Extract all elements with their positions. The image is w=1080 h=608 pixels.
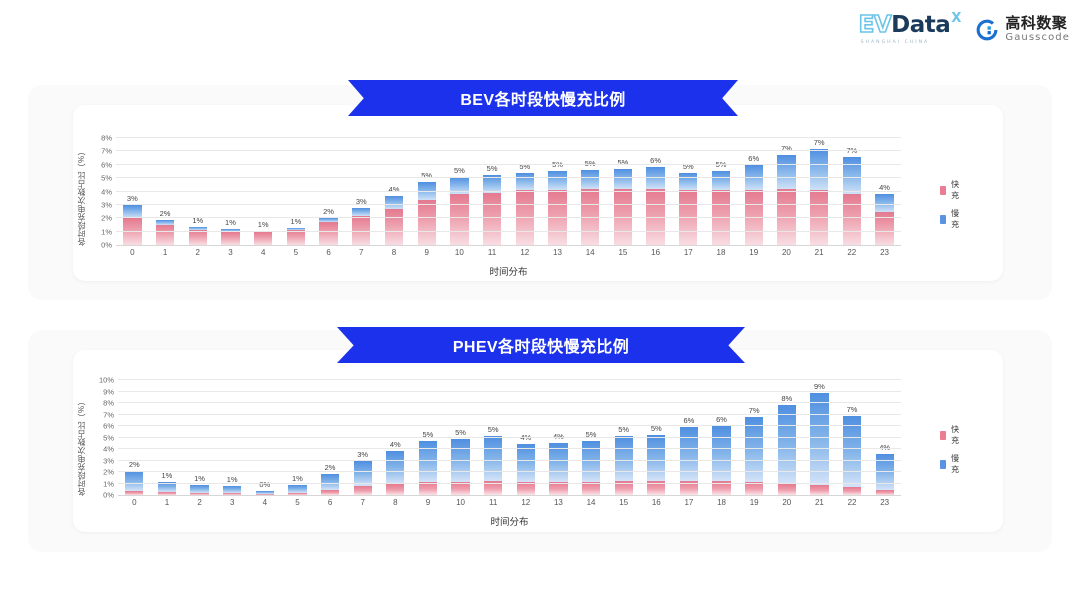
legend-item-fast-charge[interactable]: 快充 bbox=[940, 424, 962, 446]
x-axis-tick: 9 bbox=[412, 498, 445, 507]
evdata-wordmark: EV Data X bbox=[859, 14, 962, 37]
bar-segment-slow-charge[interactable] bbox=[352, 208, 370, 215]
bar-slot[interactable]: 6% bbox=[705, 380, 738, 495]
bar-value-label: 6% bbox=[684, 416, 695, 425]
bar-slot[interactable]: 5% bbox=[412, 380, 445, 495]
stacked-bar[interactable]: 4% bbox=[875, 194, 893, 245]
stacked-bar[interactable]: 5% bbox=[581, 170, 599, 245]
x-axis-tick: 14 bbox=[574, 248, 607, 257]
bar-value-label: 2% bbox=[160, 209, 171, 218]
stacked-bar[interactable]: 7% bbox=[843, 157, 861, 245]
x-axis-tick: 10 bbox=[443, 248, 476, 257]
bar-slot[interactable]: 1% bbox=[280, 138, 313, 245]
y-axis-tick: 8% bbox=[101, 134, 112, 143]
bar-slot[interactable]: 5% bbox=[705, 138, 738, 245]
bar-value-label: 0% bbox=[259, 480, 270, 489]
x-axis-tick: 11 bbox=[477, 498, 510, 507]
chart-title-phev: PHEV各时段快慢充比例 bbox=[337, 327, 745, 363]
stacked-bar[interactable]: 5% bbox=[548, 171, 566, 245]
gridline bbox=[116, 204, 901, 205]
stacked-bar[interactable]: 9% bbox=[810, 393, 828, 495]
stacked-bar[interactable]: 1% bbox=[223, 486, 241, 495]
header-logos: EV Data X SHANGHAI CHINA 高科数聚 Gausscode bbox=[859, 14, 1070, 45]
bar-segment-slow-charge[interactable] bbox=[614, 169, 632, 189]
bar-slot[interactable]: 1% bbox=[281, 380, 314, 495]
bar-segment-fast-charge[interactable] bbox=[254, 232, 272, 245]
bar-slot[interactable]: 7% bbox=[836, 380, 869, 495]
phev-x-axis-ticks: 01234567891011121314151617181920212223 bbox=[118, 498, 901, 507]
bar-slot[interactable]: 1% bbox=[247, 138, 280, 245]
bar-value-label: 4% bbox=[520, 433, 531, 442]
bar-slot[interactable]: 6% bbox=[639, 138, 672, 245]
x-axis-tick: 12 bbox=[510, 498, 543, 507]
y-axis-tick: 2% bbox=[103, 468, 114, 477]
phev-y-axis-label: 各时段充电次数占比（%） bbox=[76, 378, 87, 496]
bar-value-label: 5% bbox=[421, 171, 432, 180]
bar-segment-fast-charge[interactable] bbox=[288, 493, 306, 495]
y-axis-tick: 6% bbox=[103, 422, 114, 431]
y-axis-tick: 3% bbox=[103, 456, 114, 465]
legend-swatch-fast-icon bbox=[940, 431, 946, 440]
evdata-ev-text: EV bbox=[859, 14, 892, 37]
stacked-bar[interactable]: 5% bbox=[484, 436, 502, 495]
legend-label-slow: 慢充 bbox=[951, 453, 962, 475]
bar-value-label: 1% bbox=[258, 220, 269, 229]
stacked-bar[interactable]: 1% bbox=[158, 482, 176, 495]
y-axis-tick: 7% bbox=[101, 147, 112, 156]
bar-value-label: 5% bbox=[488, 425, 499, 434]
bar-slot[interactable]: 5% bbox=[607, 380, 640, 495]
bar-segment-slow-charge[interactable] bbox=[516, 173, 534, 190]
stacked-bar[interactable]: 4% bbox=[517, 444, 535, 495]
x-axis-tick: 18 bbox=[705, 498, 738, 507]
gridline bbox=[118, 471, 901, 472]
gridline bbox=[118, 460, 901, 461]
bar-segment-fast-charge[interactable] bbox=[125, 491, 143, 495]
bar-slot[interactable]: 9% bbox=[803, 380, 836, 495]
x-axis-tick: 15 bbox=[607, 248, 640, 257]
stacked-bar[interactable]: 3% bbox=[352, 208, 370, 245]
x-axis-tick: 18 bbox=[705, 248, 738, 257]
x-axis-tick: 4 bbox=[247, 248, 280, 257]
gridline bbox=[118, 391, 901, 392]
x-axis-tick: 10 bbox=[444, 498, 477, 507]
bar-segment-fast-charge[interactable] bbox=[745, 482, 763, 495]
stacked-bar[interactable]: 3% bbox=[123, 205, 141, 245]
bar-segment-slow-charge[interactable] bbox=[712, 426, 730, 481]
bar-segment-fast-charge[interactable] bbox=[843, 194, 861, 245]
x-axis-tick: 0 bbox=[116, 248, 149, 257]
stacked-bar[interactable]: 5% bbox=[418, 182, 436, 245]
x-axis-tick: 19 bbox=[738, 498, 771, 507]
bar-segment-fast-charge[interactable] bbox=[223, 493, 241, 495]
phev-bars: 2%1%1%1%0%1%2%3%4%5%5%5%4%4%5%5%5%6%6%7%… bbox=[118, 380, 901, 495]
bar-slot[interactable]: 5% bbox=[575, 380, 608, 495]
x-axis-tick: 9 bbox=[410, 248, 443, 257]
bar-slot[interactable]: 4% bbox=[868, 380, 901, 495]
bar-slot[interactable]: 3% bbox=[346, 380, 379, 495]
gridline bbox=[118, 379, 901, 380]
evdata-subtitle: SHANGHAI CHINA bbox=[861, 40, 930, 45]
bar-segment-slow-charge[interactable] bbox=[777, 155, 795, 188]
bar-segment-slow-charge[interactable] bbox=[517, 444, 535, 482]
bar-value-label: 3% bbox=[357, 450, 368, 459]
gridline bbox=[118, 437, 901, 438]
phev-plot-area: 2%1%1%1%0%1%2%3%4%5%5%5%4%4%5%5%5%6%6%7%… bbox=[118, 380, 901, 496]
bar-segment-fast-charge[interactable] bbox=[354, 486, 372, 495]
gridline bbox=[116, 137, 901, 138]
bar-segment-fast-charge[interactable] bbox=[483, 193, 501, 245]
evdata-data-text: Data bbox=[891, 14, 950, 37]
gridline bbox=[116, 164, 901, 165]
x-axis-tick: 17 bbox=[673, 498, 706, 507]
bar-slot[interactable]: 4% bbox=[378, 138, 411, 245]
evdata-superscript-x: X bbox=[951, 12, 961, 25]
phev-x-axis-label: 时间分布 bbox=[118, 514, 901, 528]
x-axis-tick: 22 bbox=[836, 498, 869, 507]
bar-segment-fast-charge[interactable] bbox=[810, 485, 828, 495]
bar-value-label: 5% bbox=[454, 166, 465, 175]
legend-label-slow: 慢充 bbox=[951, 208, 962, 230]
bar-slot[interactable]: 1% bbox=[151, 380, 184, 495]
stacked-bar[interactable]: 4% bbox=[386, 451, 404, 495]
stacked-bar[interactable]: 1% bbox=[288, 485, 306, 495]
bar-segment-fast-charge[interactable] bbox=[256, 494, 274, 495]
stacked-bar[interactable]: 5% bbox=[615, 436, 633, 495]
legend-label-fast: 快充 bbox=[951, 179, 962, 201]
phev-legend: 快充 慢充 bbox=[940, 424, 962, 475]
x-axis-tick: 23 bbox=[868, 248, 901, 257]
x-axis-tick: 6 bbox=[312, 248, 345, 257]
bar-segment-fast-charge[interactable] bbox=[582, 482, 600, 495]
bar-slot[interactable]: 2% bbox=[149, 138, 182, 245]
bar-segment-fast-charge[interactable] bbox=[287, 230, 305, 245]
bar-value-label: 2% bbox=[129, 460, 140, 469]
bar-segment-fast-charge[interactable] bbox=[221, 232, 239, 245]
legend-swatch-slow-icon bbox=[940, 215, 946, 224]
stacked-bar[interactable]: 2% bbox=[321, 474, 339, 495]
stacked-bar[interactable]: 5% bbox=[679, 173, 697, 245]
bar-value-label: 6% bbox=[716, 415, 727, 424]
bar-slot[interactable]: 5% bbox=[477, 380, 510, 495]
gridline bbox=[118, 414, 901, 415]
bar-slot[interactable]: 4% bbox=[868, 138, 901, 245]
bar-segment-fast-charge[interactable] bbox=[189, 230, 207, 245]
stacked-bar[interactable]: 0% bbox=[256, 491, 274, 495]
bev-legend: 快充 慢充 bbox=[940, 179, 962, 230]
bar-segment-fast-charge[interactable] bbox=[517, 482, 535, 495]
x-axis-tick: 2 bbox=[181, 248, 214, 257]
y-axis-tick: 2% bbox=[101, 214, 112, 223]
gridline bbox=[116, 150, 901, 151]
bar-segment-slow-charge[interactable] bbox=[712, 171, 730, 190]
bar-segment-fast-charge[interactable] bbox=[156, 225, 174, 245]
x-axis-tick: 23 bbox=[868, 498, 901, 507]
bar-slot[interactable]: 5% bbox=[672, 138, 705, 245]
bar-value-label: 1% bbox=[292, 474, 303, 483]
bar-segment-slow-charge[interactable] bbox=[484, 436, 502, 481]
x-axis-tick: 2 bbox=[183, 498, 216, 507]
stacked-bar[interactable]: 5% bbox=[614, 169, 632, 245]
bar-segment-slow-charge[interactable] bbox=[581, 170, 599, 189]
gridline bbox=[118, 483, 901, 484]
bar-slot[interactable]: 5% bbox=[508, 138, 541, 245]
bev-y-axis-label: 各时段充电次数占比（%） bbox=[76, 136, 87, 246]
y-axis-tick: 1% bbox=[103, 479, 114, 488]
bar-value-label: 2% bbox=[323, 207, 334, 216]
bar-slot[interactable]: 2% bbox=[312, 138, 345, 245]
bar-slot[interactable]: 5% bbox=[443, 138, 476, 245]
bev-bars: 3%2%1%1%1%1%2%3%4%5%5%5%5%5%5%5%6%5%5%6%… bbox=[116, 138, 901, 245]
stacked-bar[interactable]: 5% bbox=[582, 441, 600, 495]
legend-label-fast: 快充 bbox=[951, 424, 962, 446]
stacked-bar[interactable]: 5% bbox=[516, 173, 534, 245]
bar-slot[interactable]: 1% bbox=[183, 380, 216, 495]
gridline bbox=[116, 177, 901, 178]
bar-slot[interactable]: 5% bbox=[541, 138, 574, 245]
bar-slot[interactable]: 7% bbox=[803, 138, 836, 245]
bar-segment-slow-charge[interactable] bbox=[450, 177, 468, 194]
bar-segment-slow-charge[interactable] bbox=[385, 196, 403, 209]
bar-segment-fast-charge[interactable] bbox=[386, 484, 404, 495]
bar-segment-slow-charge[interactable] bbox=[125, 471, 143, 491]
gridline bbox=[116, 191, 901, 192]
x-axis-tick: 1 bbox=[151, 498, 184, 507]
stacked-bar[interactable]: 5% bbox=[647, 435, 665, 495]
x-axis-tick: 11 bbox=[476, 248, 509, 257]
slide-page: EV Data X SHANGHAI CHINA 高科数聚 Gausscode bbox=[0, 0, 1080, 608]
bar-value-label: 7% bbox=[814, 138, 825, 147]
bar-slot[interactable]: 3% bbox=[345, 138, 378, 245]
bar-segment-fast-charge[interactable] bbox=[843, 487, 861, 495]
gausscode-logo: 高科数聚 Gausscode bbox=[975, 16, 1070, 43]
bar-slot[interactable]: 4% bbox=[510, 380, 543, 495]
bar-segment-fast-charge[interactable] bbox=[190, 493, 208, 495]
bar-segment-slow-charge[interactable] bbox=[843, 157, 861, 194]
y-axis-tick: 4% bbox=[101, 187, 112, 196]
x-axis-tick: 3 bbox=[214, 248, 247, 257]
y-axis-tick: 0% bbox=[103, 491, 114, 500]
stacked-bar[interactable]: 3% bbox=[354, 461, 372, 496]
bar-segment-slow-charge[interactable] bbox=[647, 435, 665, 481]
x-axis-tick: 21 bbox=[803, 248, 836, 257]
bar-slot[interactable]: 5% bbox=[444, 380, 477, 495]
bar-value-label: 5% bbox=[618, 425, 629, 434]
bar-slot[interactable]: 5% bbox=[574, 138, 607, 245]
bar-slot[interactable]: 8% bbox=[771, 380, 804, 495]
bar-slot[interactable]: 5% bbox=[607, 138, 640, 245]
bar-value-label: 7% bbox=[847, 405, 858, 414]
y-axis-tick: 1% bbox=[101, 227, 112, 236]
x-axis-tick: 13 bbox=[541, 248, 574, 257]
stacked-bar[interactable]: 2% bbox=[156, 220, 174, 245]
x-axis-tick: 20 bbox=[771, 498, 804, 507]
legend-swatch-slow-icon bbox=[940, 460, 946, 469]
bev-x-axis-label: 时间分布 bbox=[116, 264, 901, 278]
bar-slot[interactable]: 2% bbox=[314, 380, 347, 495]
x-axis-tick: 8 bbox=[378, 248, 411, 257]
bar-segment-fast-charge[interactable] bbox=[123, 218, 141, 245]
y-axis-tick: 9% bbox=[103, 387, 114, 396]
x-axis-tick: 13 bbox=[542, 498, 575, 507]
chart-title-bev: BEV各时段快慢充比例 bbox=[348, 80, 738, 116]
bar-slot[interactable]: 1% bbox=[181, 138, 214, 245]
gridline bbox=[116, 217, 901, 218]
gridline bbox=[118, 402, 901, 403]
stacked-bar[interactable]: 1% bbox=[190, 485, 208, 495]
bar-segment-fast-charge[interactable] bbox=[419, 482, 437, 495]
bar-segment-slow-charge[interactable] bbox=[548, 171, 566, 190]
bar-slot[interactable]: 4% bbox=[542, 380, 575, 495]
x-axis-tick: 19 bbox=[737, 248, 770, 257]
bar-segment-slow-charge[interactable] bbox=[190, 485, 208, 492]
x-axis-tick: 0 bbox=[118, 498, 151, 507]
bar-slot[interactable]: 2% bbox=[118, 380, 151, 495]
stacked-bar[interactable]: 2% bbox=[319, 218, 337, 245]
bar-segment-slow-charge[interactable] bbox=[843, 416, 861, 487]
bev-x-axis-ticks: 01234567891011121314151617181920212223 bbox=[116, 248, 901, 257]
y-axis-tick: 10% bbox=[99, 376, 114, 385]
bar-slot[interactable]: 5% bbox=[410, 138, 443, 245]
bar-segment-slow-charge[interactable] bbox=[123, 205, 141, 218]
x-axis-tick: 3 bbox=[216, 498, 249, 507]
bar-value-label: 5% bbox=[423, 430, 434, 439]
bar-slot[interactable]: 6% bbox=[673, 380, 706, 495]
bar-value-label: 5% bbox=[617, 158, 628, 167]
bar-value-label: 5% bbox=[552, 160, 563, 169]
x-axis-tick: 7 bbox=[345, 248, 378, 257]
bar-value-label: 5% bbox=[455, 428, 466, 437]
stacked-bar[interactable]: 5% bbox=[483, 175, 501, 245]
bar-segment-slow-charge[interactable] bbox=[386, 451, 404, 484]
legend-item-fast-charge[interactable]: 快充 bbox=[940, 179, 962, 201]
x-axis-tick: 5 bbox=[281, 498, 314, 507]
bar-value-label: 1% bbox=[225, 218, 236, 227]
stacked-bar[interactable]: 5% bbox=[419, 441, 437, 495]
bar-value-label: 7% bbox=[781, 144, 792, 153]
stacked-bar[interactable]: 5% bbox=[450, 177, 468, 245]
y-axis-tick: 4% bbox=[103, 445, 114, 454]
x-axis-tick: 15 bbox=[607, 498, 640, 507]
bar-segment-slow-charge[interactable] bbox=[680, 427, 698, 481]
x-axis-tick: 16 bbox=[639, 248, 672, 257]
bar-segment-fast-charge[interactable] bbox=[321, 490, 339, 495]
phev-chart: 各时段充电次数占比（%） 2%1%1%1%0%1%2%3%4%5%5%5%4%4… bbox=[78, 376, 958, 538]
x-axis-tick: 8 bbox=[379, 498, 412, 507]
y-axis-tick: 5% bbox=[101, 174, 112, 183]
x-axis-tick: 17 bbox=[672, 248, 705, 257]
bar-slot[interactable]: 1% bbox=[216, 380, 249, 495]
bar-segment-slow-charge[interactable] bbox=[288, 485, 306, 493]
bar-segment-slow-charge[interactable] bbox=[549, 443, 567, 482]
bar-slot[interactable]: 0% bbox=[249, 380, 282, 495]
bar-segment-fast-charge[interactable] bbox=[319, 222, 337, 245]
bar-segment-fast-charge[interactable] bbox=[451, 482, 469, 495]
bar-value-label: 3% bbox=[127, 194, 138, 203]
x-axis-tick: 12 bbox=[508, 248, 541, 257]
bar-segment-slow-charge[interactable] bbox=[223, 486, 241, 493]
bar-segment-slow-charge[interactable] bbox=[745, 417, 763, 483]
stacked-bar[interactable]: 6% bbox=[646, 167, 664, 245]
bar-segment-fast-charge[interactable] bbox=[158, 492, 176, 495]
bar-slot[interactable]: 5% bbox=[476, 138, 509, 245]
legend-item-slow-charge[interactable]: 慢充 bbox=[940, 453, 962, 475]
bar-slot[interactable]: 6% bbox=[737, 138, 770, 245]
gausscode-mark-icon bbox=[975, 18, 999, 42]
x-axis-tick: 14 bbox=[575, 498, 608, 507]
gausscode-text: 高科数聚 Gausscode bbox=[1005, 16, 1070, 43]
bar-value-label: 6% bbox=[748, 154, 759, 163]
legend-item-slow-charge[interactable]: 慢充 bbox=[940, 208, 962, 230]
x-axis-tick: 22 bbox=[835, 248, 868, 257]
bar-slot[interactable]: 7% bbox=[738, 380, 771, 495]
y-axis-tick: 7% bbox=[103, 410, 114, 419]
stacked-bar[interactable]: 5% bbox=[712, 171, 730, 245]
bar-segment-fast-charge[interactable] bbox=[385, 209, 403, 245]
bar-slot[interactable]: 5% bbox=[640, 380, 673, 495]
gridline bbox=[118, 448, 901, 449]
bar-slot[interactable]: 7% bbox=[770, 138, 803, 245]
x-axis-tick: 5 bbox=[280, 248, 313, 257]
bar-value-label: 4% bbox=[389, 185, 400, 194]
bar-segment-fast-charge[interactable] bbox=[418, 200, 436, 245]
bar-value-label: 5% bbox=[487, 164, 498, 173]
bar-slot[interactable]: 4% bbox=[379, 380, 412, 495]
x-axis-tick: 21 bbox=[803, 498, 836, 507]
bar-segment-fast-charge[interactable] bbox=[876, 490, 894, 495]
y-axis-tick: 8% bbox=[103, 399, 114, 408]
bar-slot[interactable]: 1% bbox=[214, 138, 247, 245]
stacked-bar[interactable]: 4% bbox=[549, 443, 567, 495]
bar-value-label: 5% bbox=[716, 160, 727, 169]
y-axis-tick: 6% bbox=[101, 160, 112, 169]
x-axis-tick: 4 bbox=[249, 498, 282, 507]
x-axis-tick: 6 bbox=[314, 498, 347, 507]
y-axis-tick: 5% bbox=[103, 433, 114, 442]
y-axis-tick: 3% bbox=[101, 200, 112, 209]
bev-plot-area: 3%2%1%1%1%1%2%3%4%5%5%5%5%5%5%5%6%5%5%6%… bbox=[116, 138, 901, 246]
x-axis-tick: 7 bbox=[346, 498, 379, 507]
evdata-logo: EV Data X SHANGHAI CHINA bbox=[859, 14, 962, 45]
gausscode-en-name: Gausscode bbox=[1005, 33, 1070, 43]
bar-segment-fast-charge[interactable] bbox=[549, 482, 567, 495]
bar-segment-fast-charge[interactable] bbox=[450, 194, 468, 245]
gridline bbox=[116, 231, 901, 232]
x-axis-tick: 20 bbox=[770, 248, 803, 257]
legend-swatch-fast-icon bbox=[940, 186, 946, 195]
stacked-bar[interactable]: 1% bbox=[254, 231, 272, 245]
bar-segment-slow-charge[interactable] bbox=[646, 167, 664, 188]
bar-segment-fast-charge[interactable] bbox=[778, 484, 796, 495]
x-axis-tick: 16 bbox=[640, 498, 673, 507]
gridline bbox=[118, 425, 901, 426]
bar-slot[interactable]: 3% bbox=[116, 138, 149, 245]
bar-segment-slow-charge[interactable] bbox=[810, 149, 828, 190]
x-axis-tick: 1 bbox=[149, 248, 182, 257]
bev-chart: 各时段充电次数占比（%） 3%2%1%1%1%1%2%3%4%5%5%5%5%5… bbox=[78, 134, 958, 289]
bar-value-label: 1% bbox=[290, 217, 301, 226]
y-axis-tick: 0% bbox=[101, 241, 112, 250]
bar-value-label: 5% bbox=[586, 430, 597, 439]
gausscode-cn-name: 高科数聚 bbox=[1005, 16, 1070, 31]
bar-slot[interactable]: 7% bbox=[835, 138, 868, 245]
bar-segment-slow-charge[interactable] bbox=[679, 173, 697, 190]
